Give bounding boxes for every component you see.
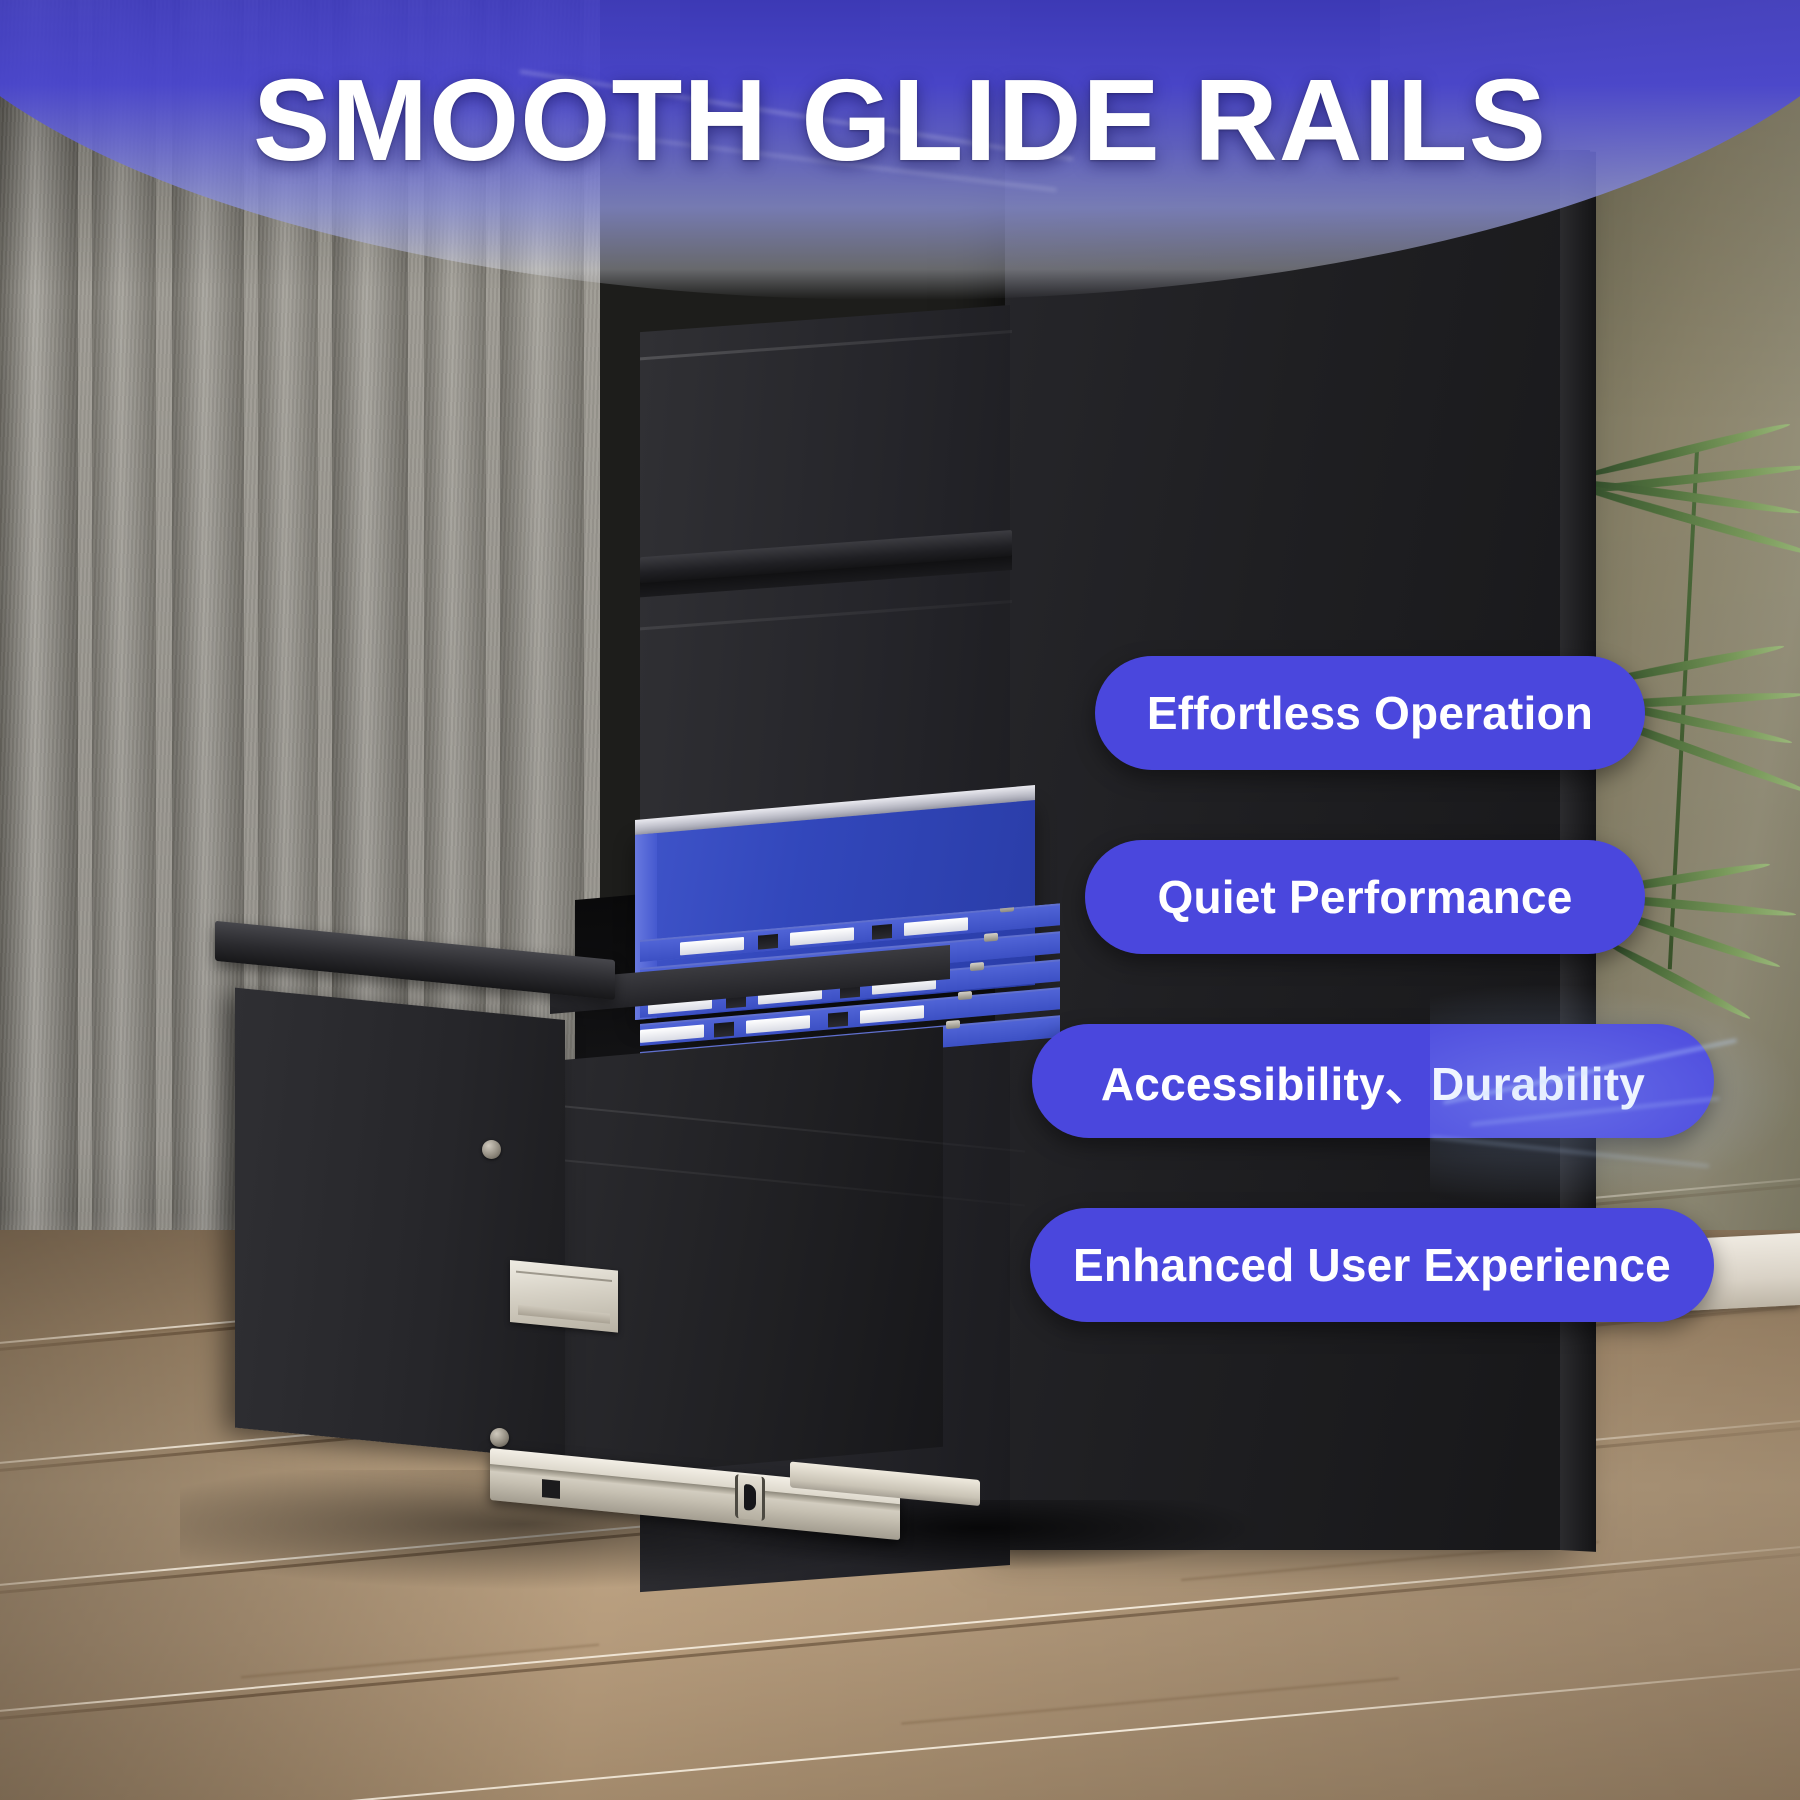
page-title: SMOOTH GLIDE RAILS (0, 62, 1800, 178)
feature-pill-quiet-performance[interactable]: Quiet Performance (1085, 840, 1645, 954)
feature-pill-accessibility-durability[interactable]: Accessibility、Durability (1032, 1024, 1714, 1138)
feature-pill-effortless-operation[interactable]: Effortless Operation (1095, 656, 1645, 770)
product-feature-image: SMOOTH GLIDE RAILS Effortless Operation … (0, 0, 1800, 1800)
feature-pill-list: Effortless Operation Quiet Performance A… (0, 0, 1800, 1800)
feature-pill-enhanced-user-experience[interactable]: Enhanced User Experience (1030, 1208, 1714, 1322)
